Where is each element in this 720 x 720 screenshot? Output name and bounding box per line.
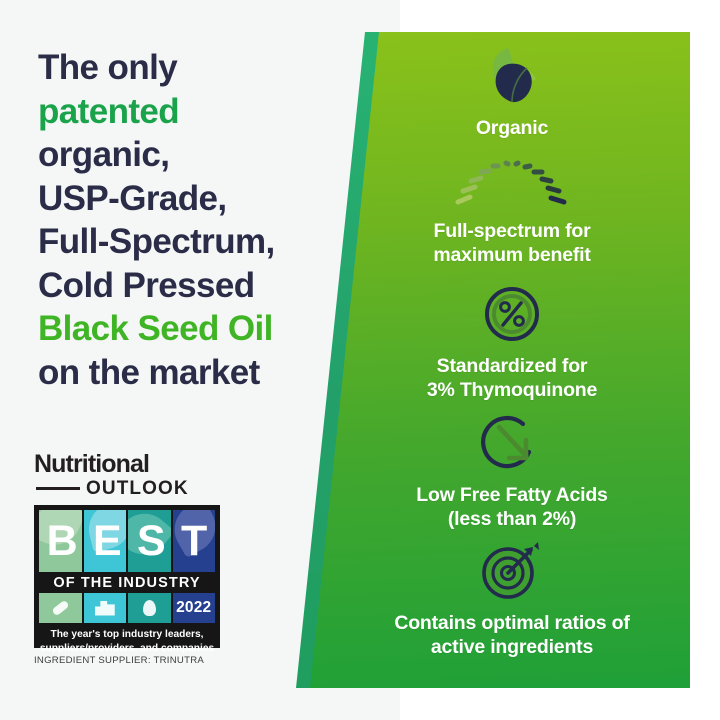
badge-tile-1: [39, 510, 82, 572]
publication-name-top: Nutritional: [34, 452, 230, 477]
feature-low-ffa-line-2: (less than 2%): [342, 508, 682, 532]
headline-line-7-accent: Black Seed Oil: [38, 309, 273, 348]
feature-standardized-line-1: Standardized for: [342, 355, 682, 379]
best-of-industry-badge: B E S T OF THE INDUSTRY 2022 The year's …: [34, 505, 220, 648]
award-block: Nutritional OUTLOOK B E S T: [34, 452, 230, 666]
nutritional-outlook-logo: Nutritional OUTLOOK: [34, 452, 230, 498]
logo-rule: [36, 487, 80, 490]
headline-line-6: Cold Pressed: [38, 266, 255, 305]
badge-caption-line-1: The year's top industry leaders,: [39, 628, 215, 642]
badge-year: 2022: [173, 593, 216, 623]
page-title: The only patented organic, USP-Grade, Fu…: [38, 46, 358, 395]
supplier-line: INGREDIENT SUPPLIER: TRINUTRA: [34, 655, 230, 666]
feature-full-spectrum-line-1: Full-spectrum for: [342, 220, 682, 244]
headline-line-8: on the market: [38, 353, 260, 392]
feature-standardized-line-2: 3% Thymoquinone: [342, 379, 682, 403]
feature-low-ffa: Low Free Fatty Acids (less than 2%): [342, 412, 682, 532]
badge-tile-4: [173, 510, 216, 572]
badge-tile-3: [128, 510, 171, 572]
headline-line-1: The only: [38, 48, 177, 87]
badge-photo-tiles: [39, 510, 215, 572]
feature-low-ffa-line-1: Low Free Fatty Acids: [342, 484, 682, 508]
feature-organic-line-1: Organic: [342, 117, 682, 141]
headline-line-5: Full-Spectrum,: [38, 222, 275, 261]
down-arrow-circle-icon: [342, 412, 682, 474]
feature-full-spectrum-line-2: maximum benefit: [342, 244, 682, 268]
badge-tile-2: [84, 510, 127, 572]
feature-full-spectrum: Full-spectrum for maximum benefit: [342, 150, 682, 268]
badge-caption-line-2: suppliers/providers, and companies: [39, 642, 215, 656]
feature-optimal-ratios: Contains optimal ratios of active ingred…: [342, 539, 682, 660]
headline-line-4: USP-Grade,: [38, 179, 227, 218]
feature-optimal-ratios-line-2: active ingredients: [342, 636, 682, 660]
badge-year-label: 2022: [176, 599, 211, 617]
feature-standardized: Standardized for 3% Thymoquinone: [342, 283, 682, 403]
feature-optimal-ratios-line-1: Contains optimal ratios of: [342, 612, 682, 636]
target-arrow-icon: [342, 539, 682, 601]
badge-caption: The year's top industry leaders, supplie…: [39, 628, 215, 655]
feature-organic: Organic: [342, 46, 682, 141]
spectrum-fan-icon: [342, 150, 682, 212]
pill-icon: [39, 593, 82, 623]
building-icon: [84, 593, 127, 623]
person-icon: [128, 593, 171, 623]
badge-subtitle: OF THE INDUSTRY: [39, 572, 215, 593]
percent-circle-icon: [342, 283, 682, 345]
publication-name-bottom: OUTLOOK: [86, 479, 189, 498]
infographic-canvas: The only patented organic, USP-Grade, Fu…: [0, 0, 720, 720]
headline-line-2-accent: patented: [38, 92, 179, 131]
headline-line-3: organic,: [38, 135, 169, 174]
badge-icon-tiles: 2022: [39, 593, 215, 623]
leaf-icon: [342, 46, 682, 108]
